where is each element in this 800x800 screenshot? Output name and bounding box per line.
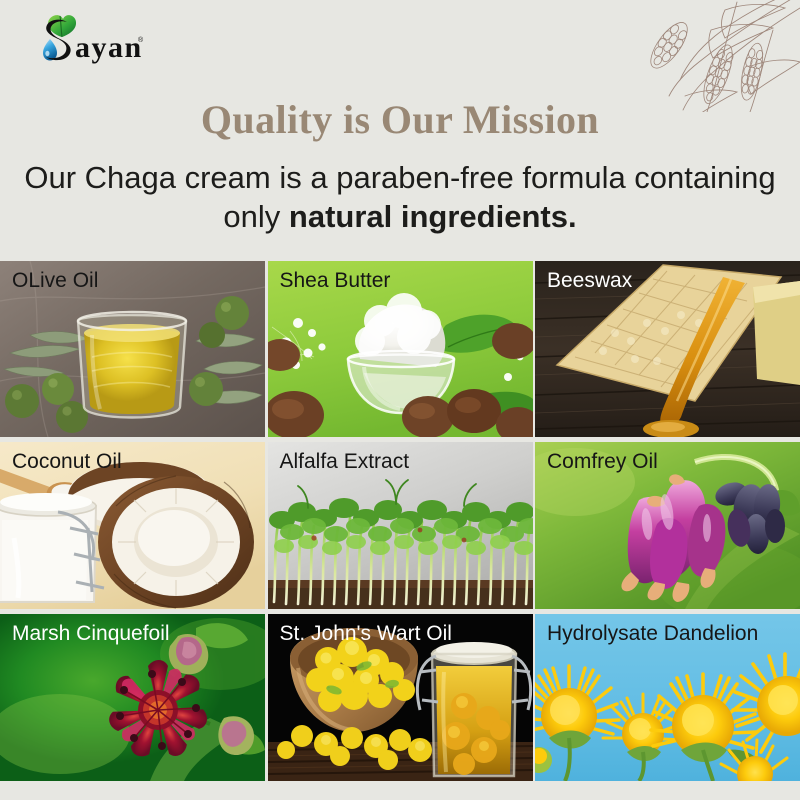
brand-wordmark: ayan [75, 31, 143, 64]
ingredient-card-alfalfa-extract[interactable]: Alfalfa Extract [268, 442, 533, 609]
ingredient-card-beeswax[interactable]: Beeswax [535, 261, 800, 437]
registered-trademark-icon: ® [138, 36, 144, 44]
ingredient-label: Alfalfa Extract [280, 451, 410, 472]
brand-logo[interactable]: ayan ® [30, 12, 150, 64]
ingredient-card-coconut-oil[interactable]: Coconut Oil [0, 442, 265, 609]
ingredient-label: St. John's Wart Oil [280, 623, 452, 644]
ingredient-label: Comfrey Oil [547, 451, 658, 472]
ingredient-card-olive-oil[interactable]: OLive Oil [0, 261, 265, 437]
subtitle-emphasis: natural ingredients. [289, 199, 577, 234]
ingredient-label: Coconut Oil [12, 451, 122, 472]
ingredient-label: Shea Butter [280, 270, 391, 291]
ingredient-card-comfrey-oil[interactable]: Comfrey Oil [535, 442, 800, 609]
ingredient-card-hydrolysate-dandelion[interactable]: Hydrolysate Dandelion [535, 614, 800, 781]
ingredient-card-st-johns-wart-oil[interactable]: St. John's Wart Oil [268, 614, 533, 781]
promo-infographic: ayan ® [0, 0, 800, 800]
leaf-and-waterdrop-icon: ayan ® [30, 12, 150, 64]
ingredient-grid: OLive Oil [0, 261, 800, 780]
ingredient-label: OLive Oil [12, 270, 98, 291]
ingredient-label: Beeswax [547, 270, 632, 291]
ingredient-label: Marsh Cinquefoil [12, 623, 170, 644]
page-title: Quality is Our Mission [0, 96, 800, 143]
ingredient-card-shea-butter[interactable]: Shea Butter [268, 261, 533, 437]
page-subtitle: Our Chaga cream is a paraben-free formul… [0, 158, 800, 236]
ingredient-label: Hydrolysate Dandelion [547, 623, 758, 644]
ingredient-card-marsh-cinquefoil[interactable]: Marsh Cinquefoil [0, 614, 265, 781]
header: ayan ® [0, 0, 800, 258]
